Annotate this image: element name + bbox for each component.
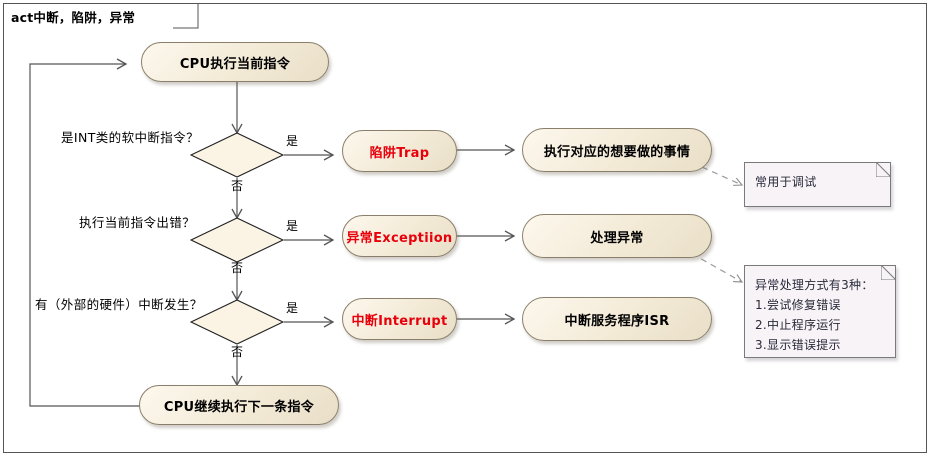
note-exception-line-1: 异常处理方式有3种：: [755, 275, 885, 295]
note-exception-line-2: 1.尝试修复错误: [755, 295, 885, 315]
note-fold-corner-icon: [876, 162, 891, 177]
note-fold-corner-icon: [881, 265, 896, 280]
decision-diamond-1[interactable]: [190, 132, 284, 178]
edge-label-yes-3: 是: [286, 299, 298, 316]
decision-question-3: 有（外部的硬件）中断发生？: [35, 294, 203, 313]
node-exception[interactable]: 异常Exceptiion: [342, 215, 457, 257]
note-exception-text: 异常处理方式有3种： 1.尝试修复错误 2.中止程序运行 3.显示错误提示: [745, 266, 895, 363]
frame-tab-slant-icon: [173, 3, 199, 29]
node-trap[interactable]: 陷阱Trap: [342, 130, 457, 172]
node-exception-action[interactable]: 处理异常: [522, 214, 712, 258]
frame-title-text: act中断，陷阱，异常: [11, 7, 135, 26]
frame-title-tab: act中断，陷阱，异常: [3, 3, 177, 28]
decision-diamond-3[interactable]: [190, 299, 284, 345]
decision-question-2: 执行当前指令出错？: [79, 212, 195, 231]
decision-question-1: 是INT类的软中断指令？: [61, 127, 199, 146]
note-exception: 异常处理方式有3种： 1.尝试修复错误 2.中止程序运行 3.显示错误提示: [744, 265, 896, 358]
note-exception-line-4: 3.显示错误提示: [755, 335, 885, 355]
diagram-canvas: act中断，陷阱，异常: [0, 0, 931, 457]
decision-diamond-2[interactable]: [190, 217, 284, 263]
edge-label-yes-1: 是: [286, 132, 298, 149]
note-trap-line-1: 常用于调试: [755, 172, 880, 192]
node-interrupt[interactable]: 中断Interrupt: [342, 298, 457, 340]
edge-label-no-2: 否: [231, 259, 243, 276]
edge-label-no-3: 否: [231, 343, 243, 360]
node-cpu-next-instruction[interactable]: CPU继续执行下一条指令: [139, 385, 339, 425]
node-cpu-execute-current[interactable]: CPU执行当前指令: [141, 42, 329, 82]
node-trap-action[interactable]: 执行对应的想要做的事情: [522, 128, 712, 172]
note-trap-text: 常用于调试: [745, 163, 890, 200]
edge-label-yes-2: 是: [286, 217, 298, 234]
edge-label-no-1: 否: [231, 177, 243, 194]
node-interrupt-action[interactable]: 中断服务程序ISR: [522, 297, 712, 341]
note-trap: 常用于调试: [744, 162, 891, 207]
note-exception-line-3: 2.中止程序运行: [755, 315, 885, 335]
